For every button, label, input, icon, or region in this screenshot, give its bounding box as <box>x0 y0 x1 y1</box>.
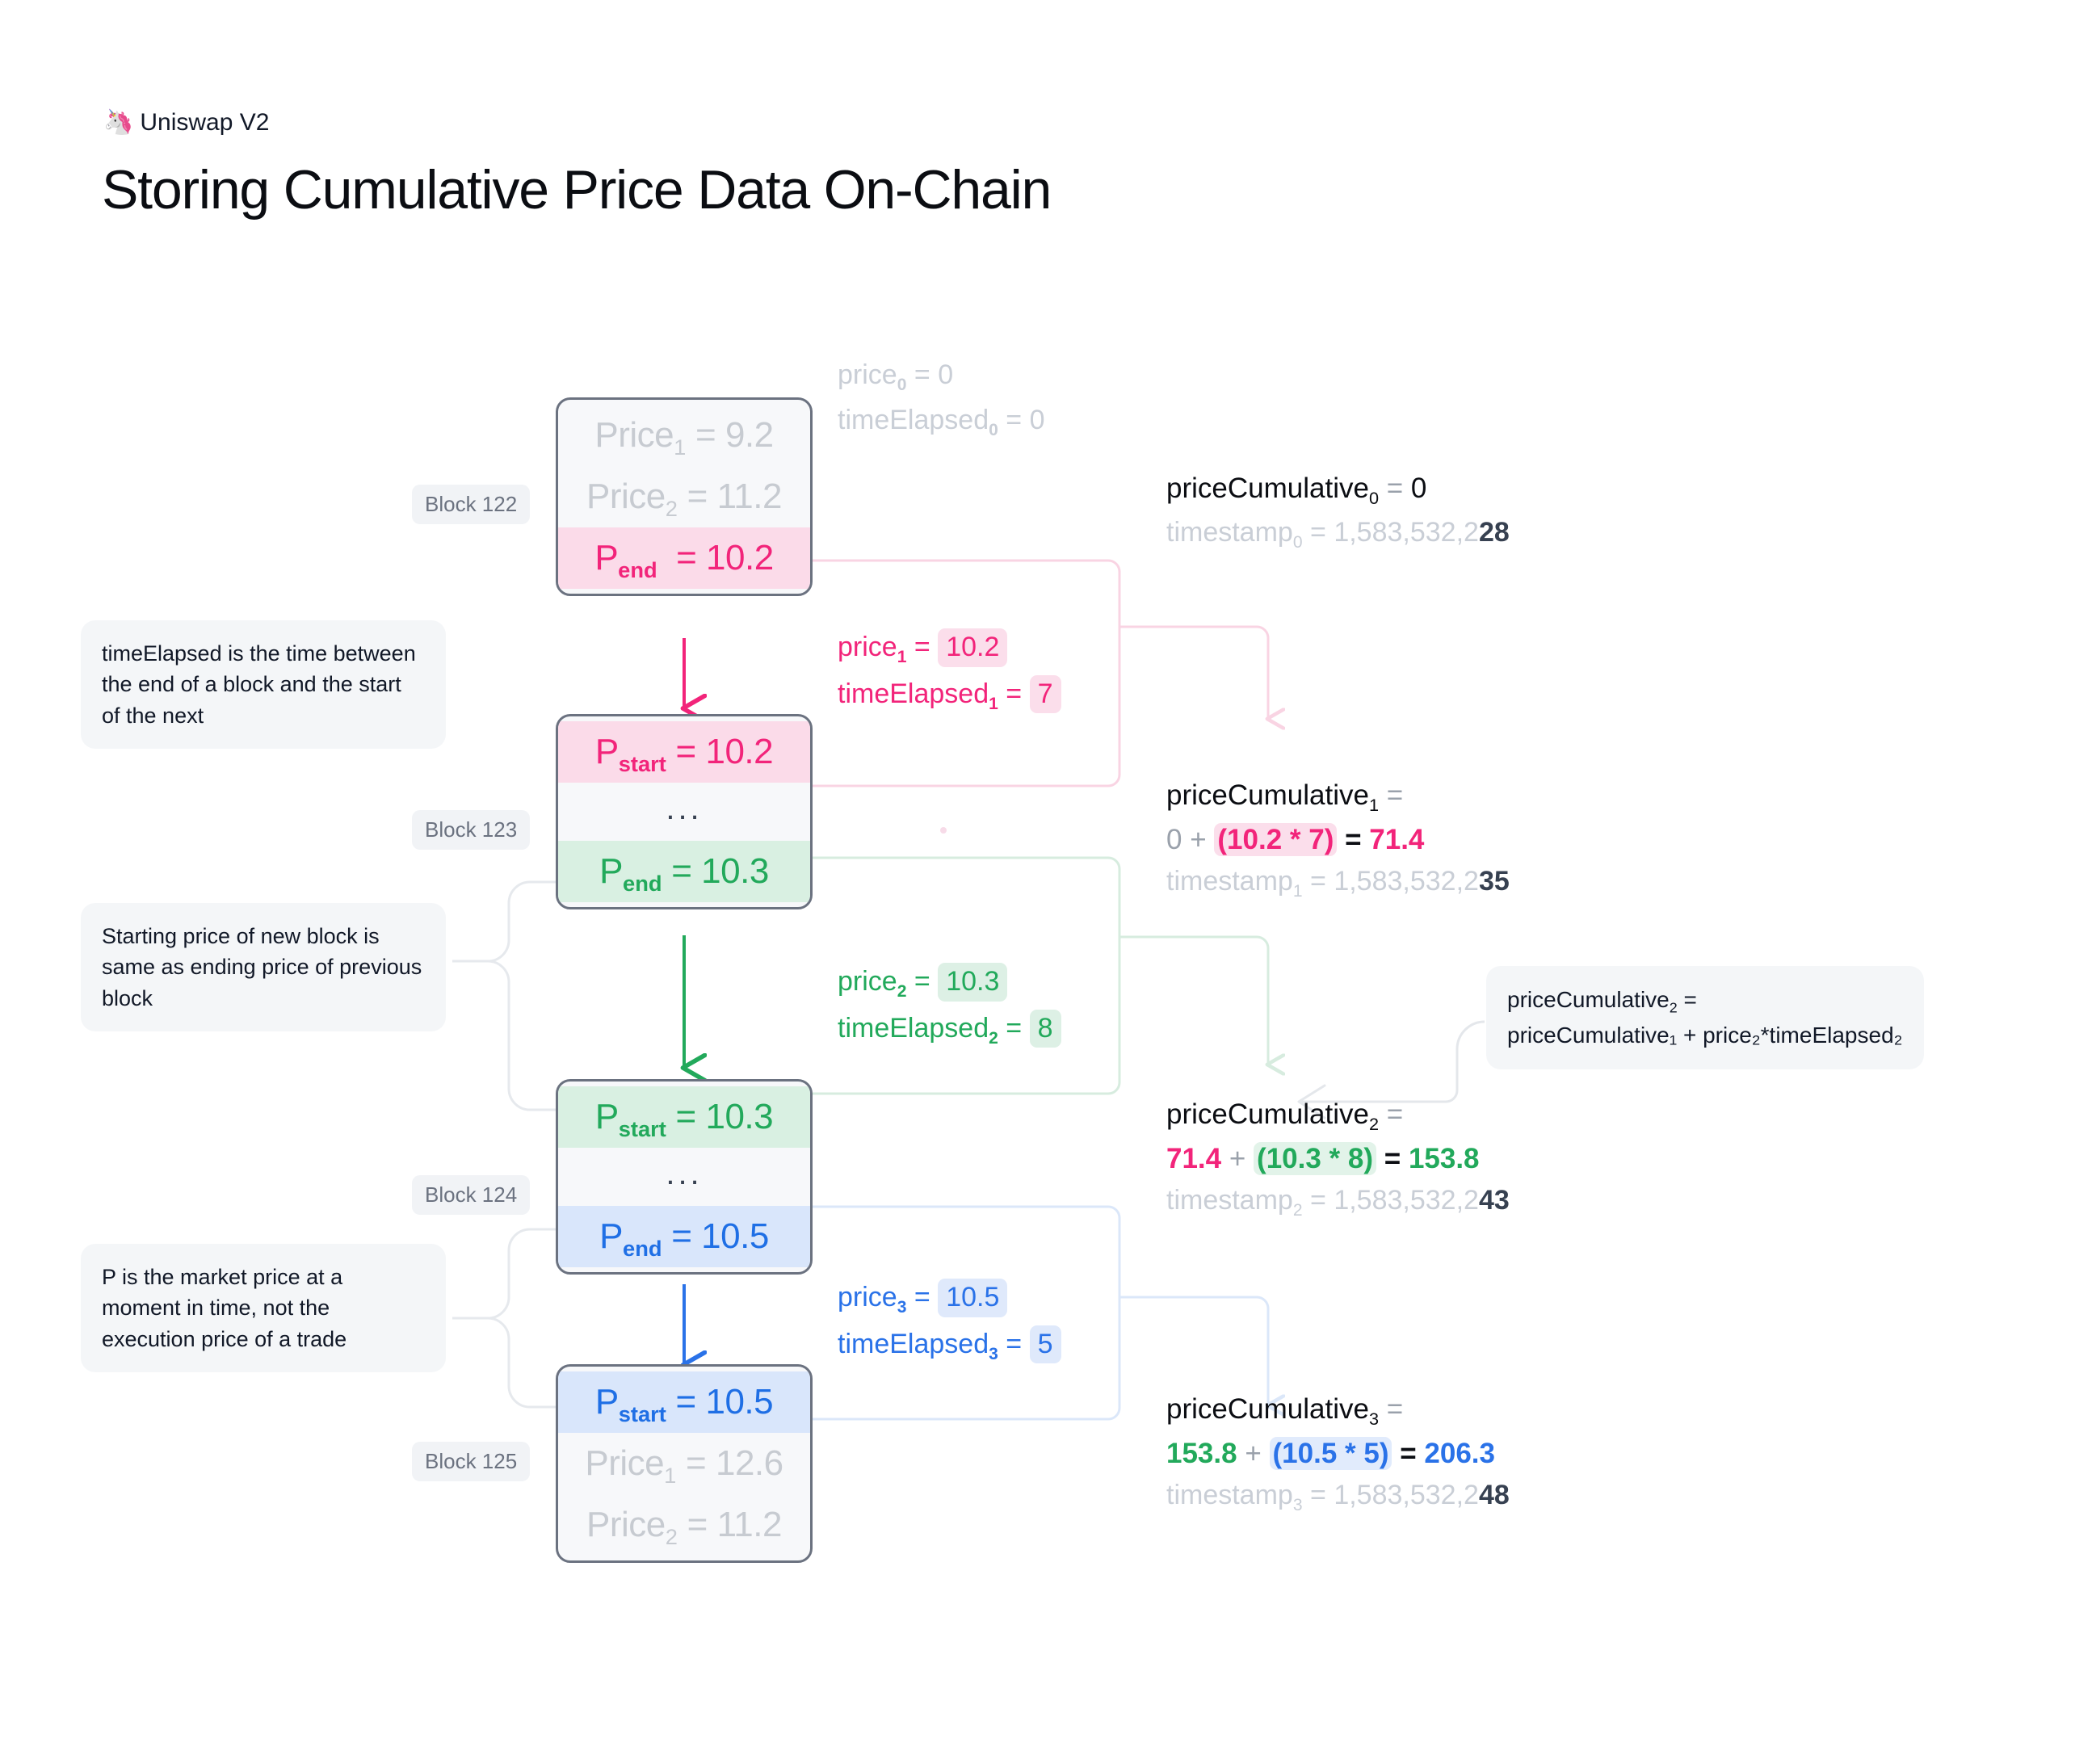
cumulative-0: priceCumulative0 = 0 timestamp0 = 1,583,… <box>1166 472 1510 552</box>
decorative-dot <box>940 827 947 834</box>
block-125-row-price2: Price2 = 11.2 <box>558 1494 810 1556</box>
connector-lines <box>0 0 2075 1764</box>
arrow-interval-1-to-cumulative-1 <box>1119 627 1268 719</box>
brand-label: Uniswap V2 <box>140 109 269 136</box>
interval-1-time: timeElapsed1 = 7 <box>838 675 1061 716</box>
block-pill-123: Block 123 <box>412 810 530 850</box>
block-pill-124: Block 124 <box>412 1175 530 1215</box>
block-card-124: Pstart = 10.3 ... Pend = 10.5 <box>556 1079 813 1275</box>
cumulative-1: priceCumulative1 = 0 + (10.2 * 7) = 71.4… <box>1166 779 1510 901</box>
interval-label-3: price3 = 10.5 timeElapsed3 = 5 <box>838 1279 1061 1372</box>
diagram-canvas: 🦄 Uniswap V2 Storing Cumulative Price Da… <box>0 0 2075 1764</box>
cumulative-2: priceCumulative2 = 71.4 + (10.3 * 8) = 1… <box>1166 1098 1510 1220</box>
cumulative-3-title: priceCumulative3 = <box>1166 1393 1510 1430</box>
interval-1-price-chip: 10.2 <box>938 628 1007 667</box>
block-124-row-pend: Pend = 10.5 <box>558 1206 810 1267</box>
block-123-row-pstart: Pstart = 10.2 <box>558 721 810 783</box>
block-125-row-pstart: Pstart = 10.5 <box>558 1371 810 1433</box>
note-starting-price: Starting price of new block is same as e… <box>81 903 446 1031</box>
block-124-row-ellipsis: ... <box>558 1148 810 1206</box>
page-title: Storing Cumulative Price Data On-Chain <box>102 158 1051 221</box>
cumulative-3-timestamp: timestamp3 = 1,583,532,248 <box>1166 1480 1510 1515</box>
bracket-note-3-upper <box>452 1229 556 1318</box>
interval-3-time-chip: 5 <box>1030 1325 1061 1364</box>
interval-label-1: price1 = 10.2 timeElapsed1 = 7 <box>838 628 1061 722</box>
interval-1-price: price1 = 10.2 <box>838 628 1061 669</box>
bracket-note-2-lower <box>452 961 556 1110</box>
cumulative-2-timestamp: timestamp2 = 1,583,532,243 <box>1166 1185 1510 1220</box>
cumulative-1-title: priceCumulative1 = <box>1166 779 1510 816</box>
block-card-125: Pstart = 10.5 Price1 = 12.6 Price2 = 11.… <box>556 1364 813 1563</box>
interval-0-time: timeElapsed0 = 0 <box>838 403 1045 442</box>
formula-note-cumulative-2: priceCumulative2 = priceCumulative₁ + pr… <box>1486 966 1924 1069</box>
cumulative-1-timestamp: timestamp1 = 1,583,532,235 <box>1166 866 1510 901</box>
arrow-formula-note-to-cumulative-2 <box>1300 1022 1485 1102</box>
formula-note-line-1: priceCumulative2 = <box>1507 984 1903 1019</box>
interval-3-price: price3 = 10.5 <box>838 1279 1061 1319</box>
block-pill-122: Block 122 <box>412 485 530 524</box>
unicorn-icon: 🦄 <box>103 111 133 135</box>
interval-3-price-chip: 10.5 <box>938 1279 1007 1317</box>
cumulative-3: priceCumulative3 = 153.8 + (10.5 * 5) = … <box>1166 1393 1510 1515</box>
block-122-row-price2: Price2 = 11.2 <box>558 466 810 527</box>
interval-0-price: price0 = 0 <box>838 358 1045 397</box>
cumulative-3-formula: 153.8 + (10.5 * 5) = 206.3 <box>1166 1438 1510 1470</box>
block-122-row-pend: Pend = 10.2 <box>558 527 810 589</box>
brand: 🦄 Uniswap V2 <box>103 109 269 136</box>
note-market-price: P is the market price at a moment in tim… <box>81 1244 446 1372</box>
interval-2-time: timeElapsed2 = 8 <box>838 1010 1061 1050</box>
block-124-row-pstart: Pstart = 10.3 <box>558 1086 810 1148</box>
bracket-note-3-lower <box>452 1318 556 1407</box>
interval-2-time-chip: 8 <box>1030 1010 1061 1048</box>
interval-3-time: timeElapsed3 = 5 <box>838 1325 1061 1366</box>
interval-2-price: price2 = 10.3 <box>838 963 1061 1003</box>
note-time-elapsed: timeElapsed is the time between the end … <box>81 620 446 749</box>
cumulative-0-timestamp: timestamp0 = 1,583,532,228 <box>1166 517 1510 552</box>
block-pill-125: Block 125 <box>412 1442 530 1481</box>
cumulative-2-formula: 71.4 + (10.3 * 8) = 153.8 <box>1166 1143 1510 1175</box>
bracket-note-2-upper <box>452 882 556 961</box>
formula-note-line-2: priceCumulative₁ + price₂*timeElapsed₂ <box>1507 1019 1903 1052</box>
block-122-row-price1: Price1 = 9.2 <box>558 405 810 466</box>
cumulative-2-title: priceCumulative2 = <box>1166 1098 1510 1135</box>
interval-label-0: price0 = 0 timeElapsed0 = 0 <box>838 358 1045 448</box>
arrow-interval-2-to-cumulative-2 <box>1119 937 1268 1065</box>
block-123-row-pend: Pend = 10.3 <box>558 841 810 902</box>
cumulative-0-title: priceCumulative0 = 0 <box>1166 472 1510 509</box>
block-123-row-ellipsis: ... <box>558 783 810 841</box>
interval-2-price-chip: 10.3 <box>938 963 1007 1002</box>
block-125-row-price1: Price1 = 12.6 <box>558 1433 810 1494</box>
interval-1-time-chip: 7 <box>1030 675 1061 714</box>
interval-label-2: price2 = 10.3 timeElapsed2 = 8 <box>838 963 1061 1056</box>
arrow-interval-3-to-cumulative-3 <box>1119 1297 1268 1405</box>
block-card-123: Pstart = 10.2 ... Pend = 10.3 <box>556 714 813 909</box>
cumulative-1-formula: 0 + (10.2 * 7) = 71.4 <box>1166 824 1510 856</box>
block-card-122: Price1 = 9.2 Price2 = 11.2 Pend = 10.2 <box>556 397 813 596</box>
